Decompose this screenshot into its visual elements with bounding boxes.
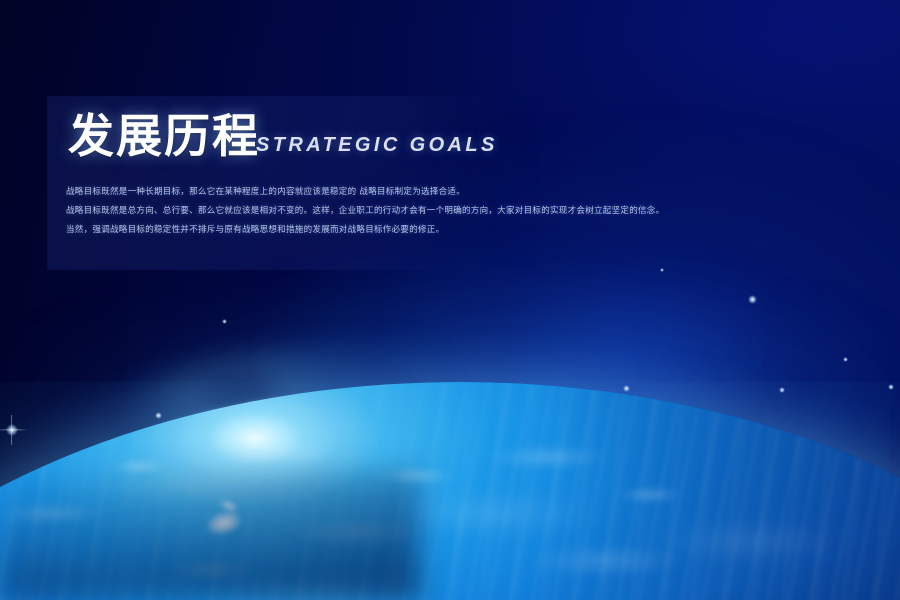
star-lower-right-b [888,384,894,390]
star-bright-left [6,424,18,436]
page-title: 发展历程 [68,113,260,159]
star-mid-left [222,319,227,324]
star-center-right [748,295,757,304]
star-right-upper [843,357,848,362]
star-lower-center [623,385,630,392]
earth-illustration [0,0,900,600]
page-subtitle: STRATEGIC GOALS [256,134,498,157]
body-line-2: 战略目标既然是总方向、总行要、那么它就应该是相对不变的。这样，企业职工的行动才会… [66,205,606,218]
body-line-1: 战略目标既然是一种长期目标，那么它在某种程度上的内容就应该是稳定的 战略目标制定… [66,186,606,199]
earth-lower-shadow [0,470,420,600]
star-lower-right-a [779,387,785,393]
star-upper-left [155,412,162,419]
banner-title-row: 发展历程 STRATEGIC GOALS [68,113,498,159]
star-faint-top [660,268,664,272]
banner-canvas: 发展历程 STRATEGIC GOALS 战略目标既然是一种长期目标，那么它在某… [0,0,900,600]
banner-body-copy: 战略目标既然是一种长期目标，那么它在某种程度上的内容就应该是稳定的 战略目标制定… [66,186,606,237]
body-line-3: 当然，强调战略目标的稳定性并不排斥与原有战略思想和措施的发展而对战略目标作必要的… [66,224,606,237]
